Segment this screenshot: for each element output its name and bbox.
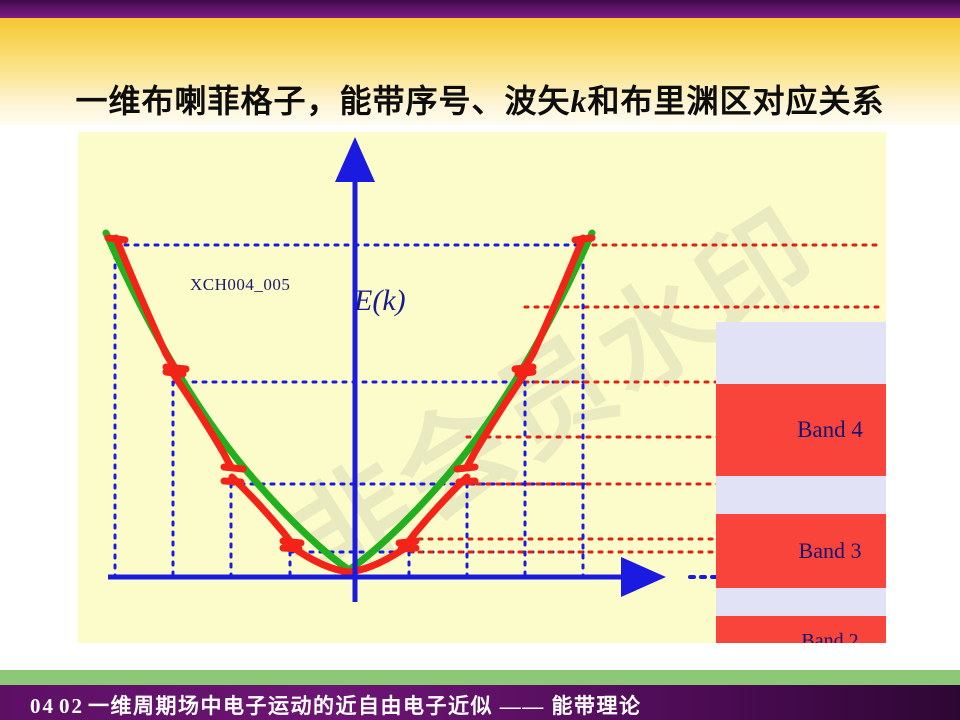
figure-id-label: XCH004_005 bbox=[190, 275, 290, 295]
y-axis-label: E(k) bbox=[354, 284, 406, 318]
footer-title: 一维周期场中电子运动的近自由电子近似 —— 能带理论 bbox=[88, 694, 642, 718]
footer-section-number: 02 bbox=[59, 694, 88, 718]
band-item-2: Band 2 bbox=[716, 616, 886, 643]
footer-chapter-number: 04 bbox=[30, 694, 59, 718]
band-item-3: Band 3 bbox=[716, 514, 886, 588]
page-title: 一维布喇菲格子，能带序号、波矢k和布里渊区对应关系 bbox=[0, 76, 960, 122]
slide-root: 一维布喇菲格子，能带序号、波矢k和布里渊区对应关系 非会员水印 bbox=[0, 0, 960, 720]
figure-container: 非会员水印 bbox=[78, 132, 886, 643]
title-banner: 一维布喇菲格子，能带序号、波矢k和布里渊区对应关系 bbox=[0, 18, 960, 125]
band-label: Band 2 bbox=[716, 616, 886, 643]
title-text-italic-k: k bbox=[571, 83, 588, 119]
band-legend-panel: Band 4Band 3Band 2Band 1 bbox=[716, 322, 886, 643]
title-text-pre: 一维布喇菲格子，能带序号、波矢 bbox=[75, 83, 570, 119]
footer-text: 0402一维周期场中电子运动的近自由电子近似 —— 能带理论 bbox=[30, 690, 642, 720]
title-text-post: 和布里渊区对应关系 bbox=[588, 83, 885, 119]
footer-green-strip bbox=[0, 670, 960, 685]
band-label: Band 4 bbox=[716, 384, 886, 476]
top-decorative-strip bbox=[0, 0, 960, 18]
band-item-4: Band 4 bbox=[716, 384, 886, 476]
band-label: Band 3 bbox=[716, 514, 886, 588]
